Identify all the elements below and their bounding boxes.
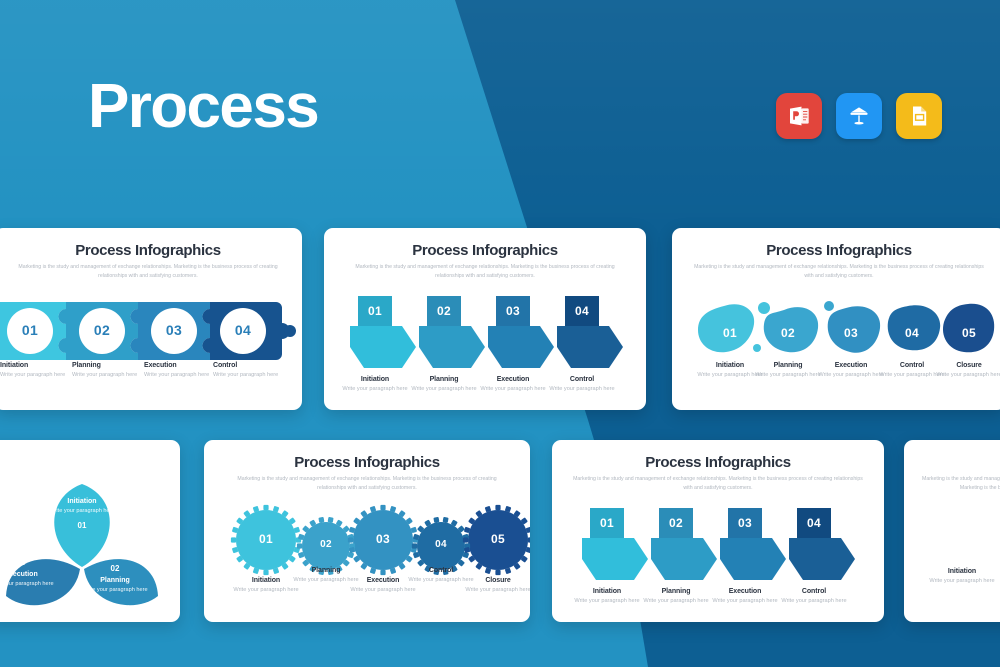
petal-label-3: 03 Execution Write your paragraph here (0, 558, 66, 588)
gear-tooth (443, 517, 449, 523)
step-label-initiation: Initiation Write your paragraph here (919, 568, 1000, 585)
blob-step-5 (943, 304, 994, 353)
page-title: Process (88, 76, 318, 138)
arrow-step-4 (789, 508, 855, 580)
step-title: Closure (926, 362, 1000, 369)
step-body: Write your paragraph here (340, 586, 426, 594)
step-title: Control (771, 588, 857, 595)
gear-tooth (231, 537, 236, 542)
blob-step-1 (698, 304, 754, 352)
card-subtitle: Marketing is the study and management of… (12, 263, 283, 280)
step-body: Write your paragraph here (771, 597, 857, 605)
gear-step-3 (353, 510, 413, 570)
gear-step-4 (417, 522, 465, 570)
step-number: 03 (0, 558, 66, 567)
gear-tooth (297, 543, 302, 548)
card-title: Process Infographics (0, 242, 302, 259)
card-title: Process Infographics (204, 454, 530, 471)
card-subtitle: Marketing is the study and management of… (919, 475, 1000, 492)
keynote-icon[interactable] (836, 93, 882, 139)
arrow-step-1 (350, 296, 416, 368)
card-title: Process Infographics (324, 242, 646, 259)
step-title: Control (213, 362, 299, 369)
gear-step-2 (302, 522, 350, 570)
gear-tooth (412, 543, 417, 548)
step-title: Planning (70, 577, 160, 584)
step-title: Control (398, 567, 484, 574)
puzzle-circle-2 (79, 308, 125, 354)
gear-tooth (463, 537, 468, 542)
step-title: Initiation (919, 568, 1000, 575)
gear-tooth (328, 517, 334, 523)
petal-label-1: Initiation Write your paragraph here 01 (32, 498, 132, 530)
card-blob-process[interactable]: Process Infographics Marketing is the st… (672, 228, 1000, 410)
powerpoint-icon[interactable] (776, 93, 822, 139)
card-subtitle: Marketing is the study and management of… (692, 263, 986, 280)
step-body: Write your paragraph here (32, 507, 132, 515)
gear-tooth (495, 570, 500, 575)
gear-tooth (380, 505, 385, 510)
arrow-step-2 (419, 296, 485, 368)
arrow-step-2 (651, 508, 717, 580)
step-label-5: Closure Write your paragraph here (455, 577, 530, 594)
blob-step-2 (764, 307, 818, 352)
arrow-step-1 (582, 508, 648, 580)
blob-diagram (694, 300, 986, 366)
petal-label-2: 02 Planning Write your paragraph here (70, 564, 160, 594)
arrow-step-3 (488, 296, 554, 368)
puzzle-end-knob (284, 325, 296, 337)
gear-tooth (528, 537, 530, 542)
step-body: Write your paragraph here (919, 577, 1000, 585)
step-number: 01 (32, 521, 132, 530)
app-format-badges (776, 93, 942, 139)
step-label-4: Control Write your paragraph here (771, 588, 857, 605)
step-body: Write your paragraph here (455, 586, 530, 594)
step-body: Write your paragraph here (70, 586, 160, 594)
gear-tooth (495, 505, 500, 510)
blob-step-3 (828, 306, 880, 353)
arrow-diagram (350, 296, 636, 370)
gear-tooth (263, 570, 268, 575)
blob-step-4 (888, 305, 940, 350)
step-title: Planning (283, 567, 369, 574)
puzzle-circle-3 (151, 308, 197, 354)
step-body: Write your paragraph here (926, 371, 1000, 379)
step-title: Control (539, 376, 625, 383)
card-partial-process[interactable]: P Marketing is the study and management … (904, 440, 1000, 622)
card-subtitle: Marketing is the study and management of… (572, 475, 864, 492)
gear-tooth (380, 570, 385, 575)
puzzle-circle-4 (220, 308, 266, 354)
gear-tooth (348, 537, 353, 542)
step-title: Execution (0, 571, 66, 578)
blob-accent-dot-c (824, 301, 834, 311)
blob-accent-dot-b (753, 344, 761, 352)
step-title: Closure (455, 577, 530, 584)
step-label-4: Control Write your paragraph here (539, 376, 625, 393)
step-body: Write your paragraph here (0, 580, 66, 588)
card-subtitle: Marketing is the study and management of… (343, 263, 626, 280)
card-petal-process[interactable]: Initiation Write your paragraph here 01 … (0, 440, 180, 622)
arrow-step-3 (720, 508, 786, 580)
card-puzzle-process[interactable]: Process Infographics Marketing is the st… (0, 228, 302, 410)
card-title: Process Infographics (552, 454, 884, 471)
puzzle-circle-1 (7, 308, 53, 354)
step-label-4: Control Write your paragraph here (213, 362, 299, 379)
card-arrow-process-2[interactable]: Process Infographics Marketing is the st… (552, 440, 884, 622)
step-body: Write your paragraph here (213, 371, 299, 379)
gear-tooth (318, 517, 324, 523)
step-body: Write your paragraph here (223, 586, 309, 594)
step-title: Initiation (32, 498, 132, 505)
card-title: Process Infographics (672, 242, 1000, 259)
gear-step-5 (468, 510, 528, 570)
gear-tooth (263, 505, 268, 510)
arrow-step-4 (557, 296, 623, 368)
card-arrow-process[interactable]: Process Infographics Marketing is the st… (324, 228, 646, 410)
gear-tooth (433, 517, 439, 523)
google-slides-icon[interactable] (896, 93, 942, 139)
step-number: 02 (70, 564, 160, 573)
step-label-5: Closure Write your paragraph here (926, 362, 1000, 379)
blob-accent-dot-a (758, 302, 770, 314)
card-subtitle: Marketing is the study and management of… (224, 475, 511, 492)
step-body: Write your paragraph here (539, 385, 625, 393)
arrow-diagram (582, 508, 872, 582)
gear-step-1 (236, 510, 296, 570)
card-title: P (904, 454, 1000, 471)
card-gear-process[interactable]: Process Infographics Marketing is the st… (204, 440, 530, 622)
puzzle-diagram (0, 302, 302, 360)
